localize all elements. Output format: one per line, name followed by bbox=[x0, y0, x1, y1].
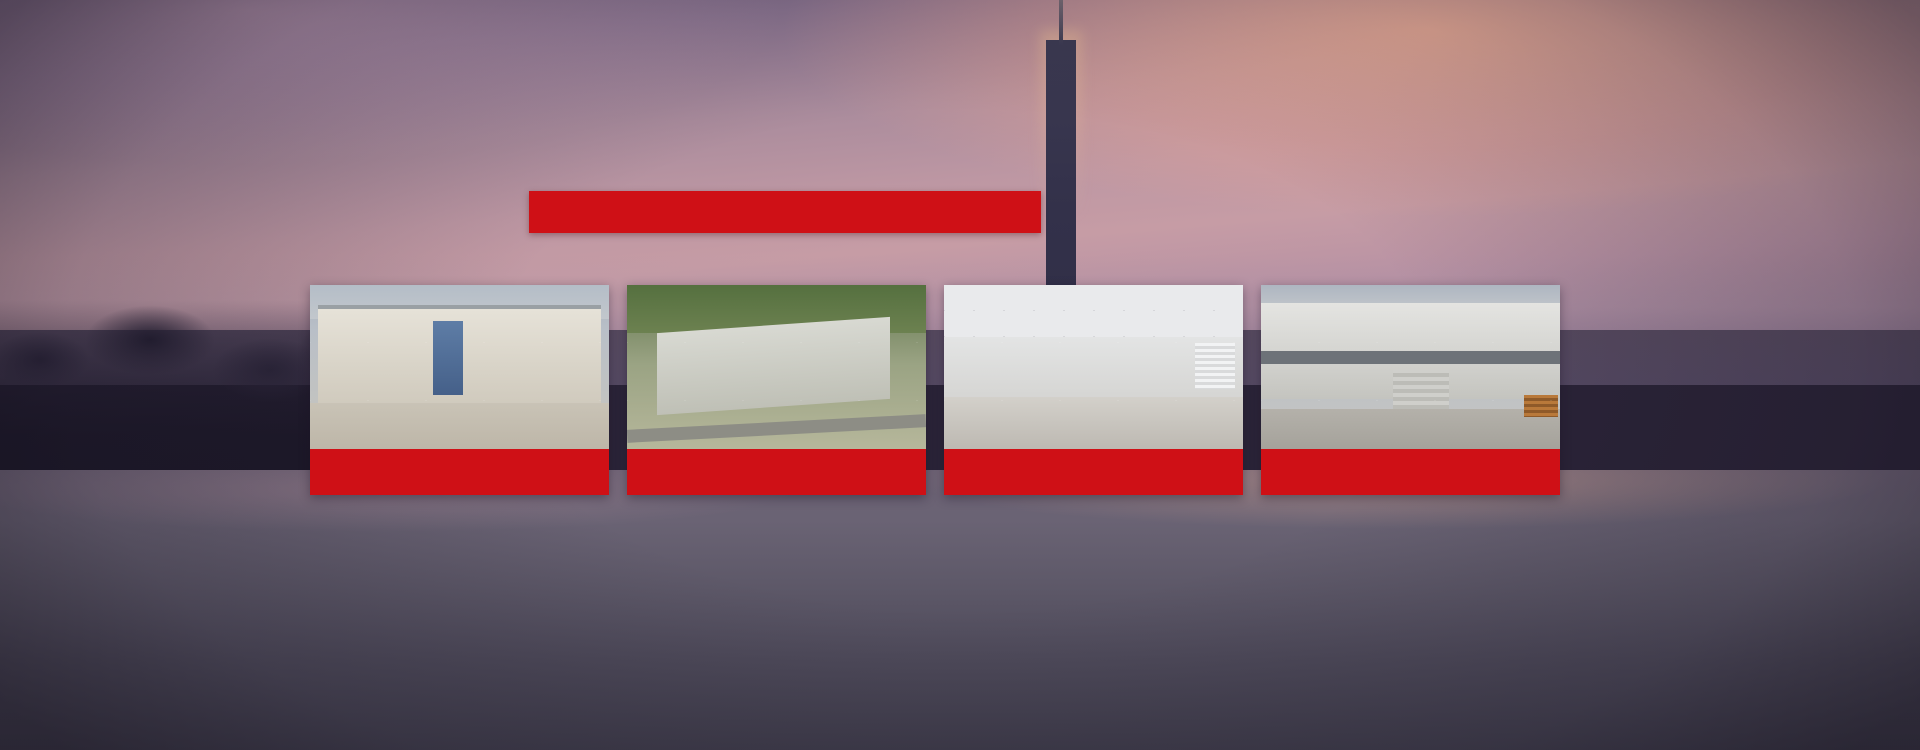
feature-card[interactable] bbox=[1261, 285, 1560, 495]
feature-card[interactable] bbox=[310, 285, 609, 495]
watermark-grid bbox=[627, 285, 926, 449]
card-caption bbox=[310, 449, 609, 495]
watermark-grid bbox=[310, 285, 609, 449]
card-caption bbox=[1261, 449, 1560, 495]
card-caption bbox=[944, 449, 1243, 495]
hero-banner bbox=[0, 0, 1920, 750]
feature-card-list bbox=[310, 285, 1560, 495]
subtitle-banner bbox=[529, 191, 1041, 233]
banner-content bbox=[0, 0, 1920, 750]
card-photo bbox=[1261, 285, 1560, 449]
feature-card[interactable] bbox=[944, 285, 1243, 495]
watermark-grid bbox=[944, 285, 1243, 449]
feature-card[interactable] bbox=[627, 285, 926, 495]
card-photo bbox=[944, 285, 1243, 449]
watermark-grid bbox=[1261, 285, 1560, 449]
card-photo bbox=[627, 285, 926, 449]
card-caption bbox=[627, 449, 926, 495]
card-photo bbox=[310, 285, 609, 449]
